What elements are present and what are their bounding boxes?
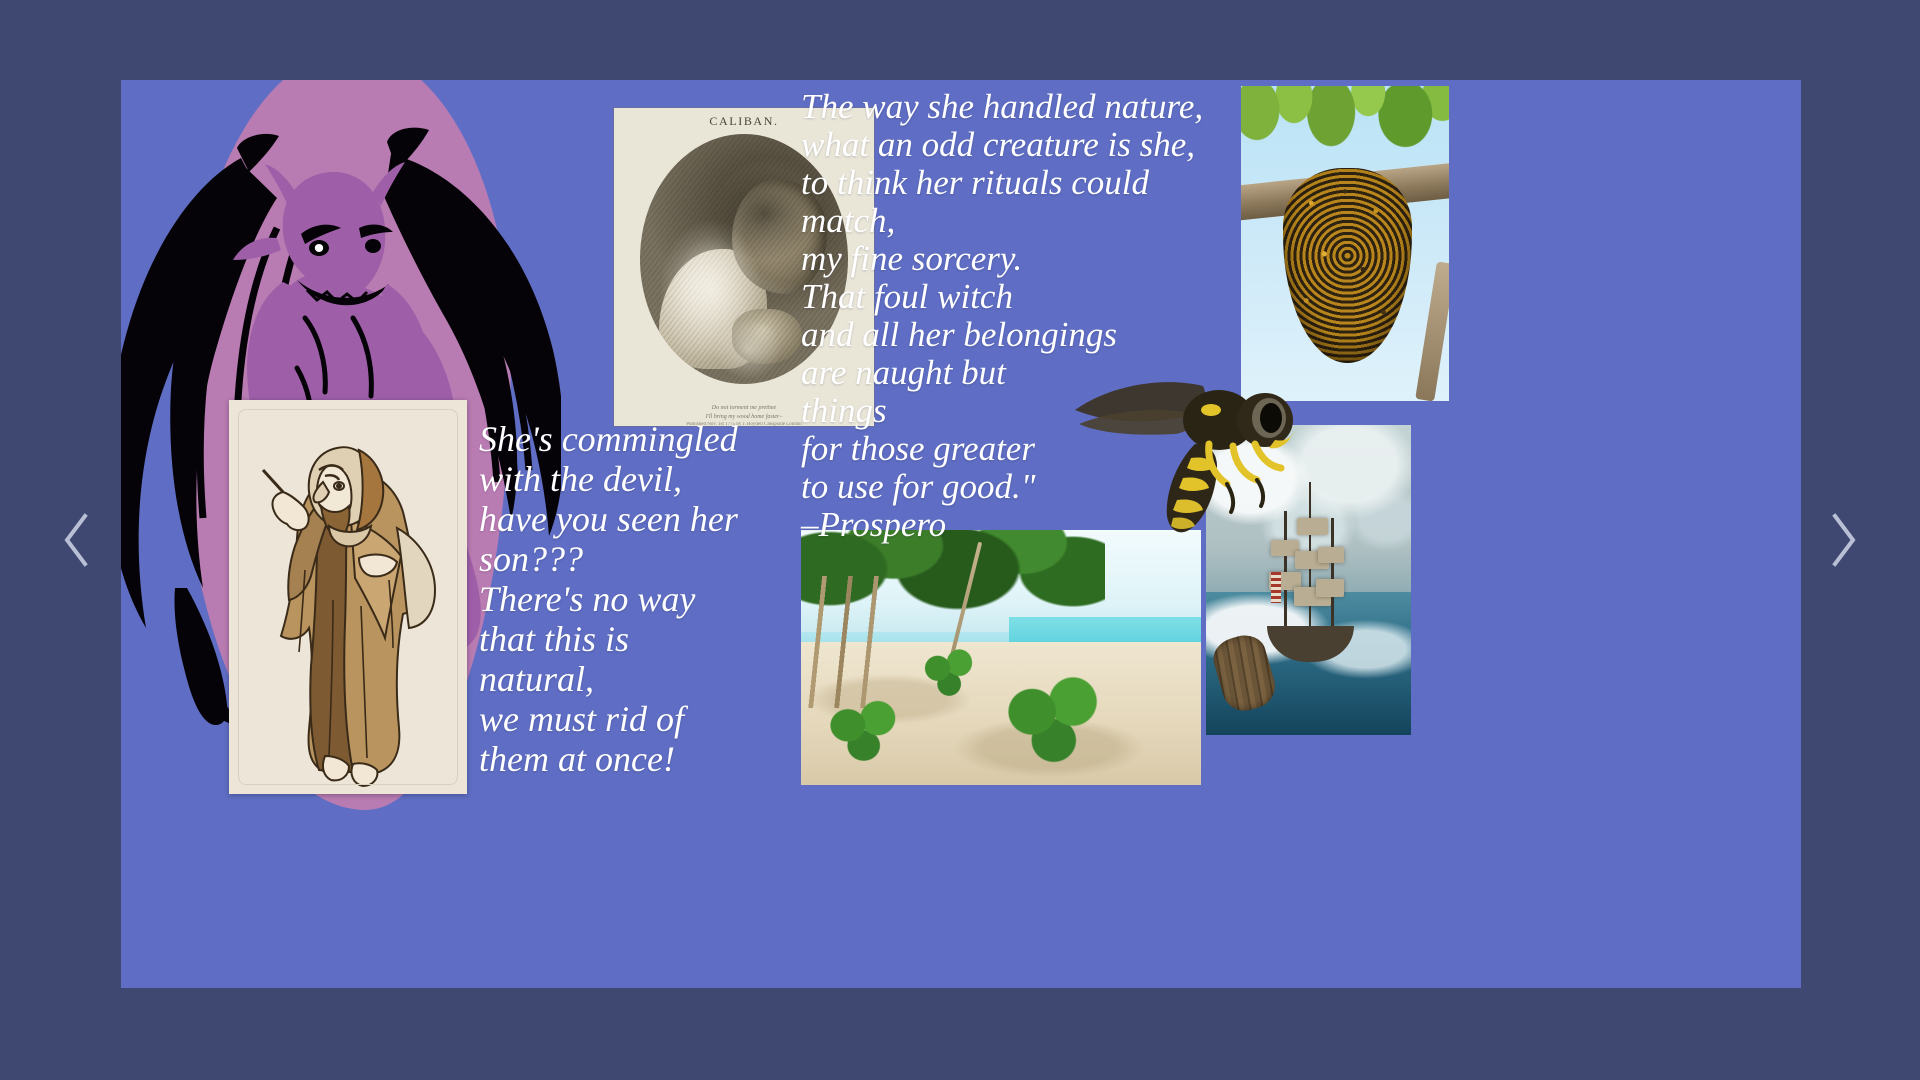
next-slide-button[interactable] [1816, 494, 1872, 586]
chevron-right-icon [1829, 512, 1859, 568]
quote-sycorax-accusation: She's commingled with the devil, have yo… [479, 419, 779, 779]
bee-swarm-photo [1241, 86, 1449, 401]
robed-figure-card [229, 400, 467, 794]
previous-slide-button[interactable] [48, 494, 104, 586]
slide-canvas: CALIBAN. Do not torment me prethee I'll … [121, 80, 1801, 988]
card-inner-border [238, 409, 458, 785]
slide-viewer: CALIBAN. Do not torment me prethee I'll … [0, 0, 1920, 1080]
quote-prospero-speech: The way she handled nature, what an odd … [801, 88, 1221, 544]
chevron-left-icon [61, 512, 91, 568]
beach-photo [801, 530, 1201, 785]
